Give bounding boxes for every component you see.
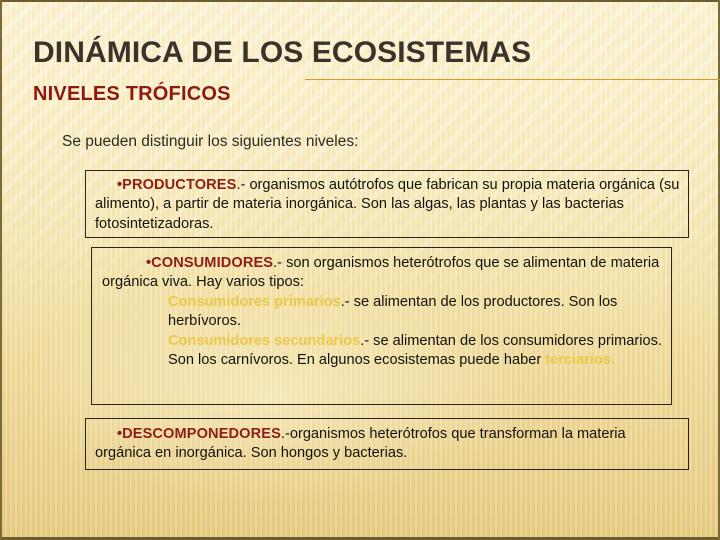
descomponedores-keyword: DESCOMPONEDORES [122,426,281,442]
slide-title: DINÁMICA DE LOS ECOSISTEMAS [33,36,531,70]
slide-edge-top [0,0,720,2]
descomponedores-bullet-icon: • [95,426,122,442]
consumidores-bullet-icon: • [102,255,151,271]
consumidores-terciarios-label: terciarios. [545,352,615,368]
slide-edge-left [0,0,2,540]
productores-bullet-icon: • [95,177,122,193]
consumidores-primarios-label: Consumidores primarios [168,294,341,310]
consumidores-paragraph: •CONSUMIDORES.- son organismos heterótro… [102,254,663,293]
content-box-productores: •PRODUCTORES.- organismos autótrofos que… [85,170,689,238]
title-divider-rule [305,79,720,80]
slide-canvas: DINÁMICA DE LOS ECOSISTEMAS NIVELES TRÓF… [0,0,720,540]
consumidores-secundarios-paragraph: Consumidores secundarios.- se alimentan … [102,332,663,371]
consumidores-secundarios-label: Consumidores secundarios [168,333,360,349]
descomponedores-paragraph: •DESCOMPONEDORES.-organismos heterótrofo… [95,425,680,464]
slide-subtitle: NIVELES TRÓFICOS [33,83,231,106]
content-box-descomponedores: •DESCOMPONEDORES.-organismos heterótrofo… [85,418,689,470]
content-box-consumidores: •CONSUMIDORES.- son organismos heterótro… [91,247,672,405]
productores-paragraph: •PRODUCTORES.- organismos autótrofos que… [95,176,680,234]
consumidores-keyword: CONSUMIDORES [151,255,273,271]
productores-keyword: PRODUCTORES [122,177,236,193]
intro-text: Se pueden distinguir los siguientes nive… [62,133,358,151]
consumidores-primarios-paragraph: Consumidores primarios.- se alimentan de… [102,293,663,332]
